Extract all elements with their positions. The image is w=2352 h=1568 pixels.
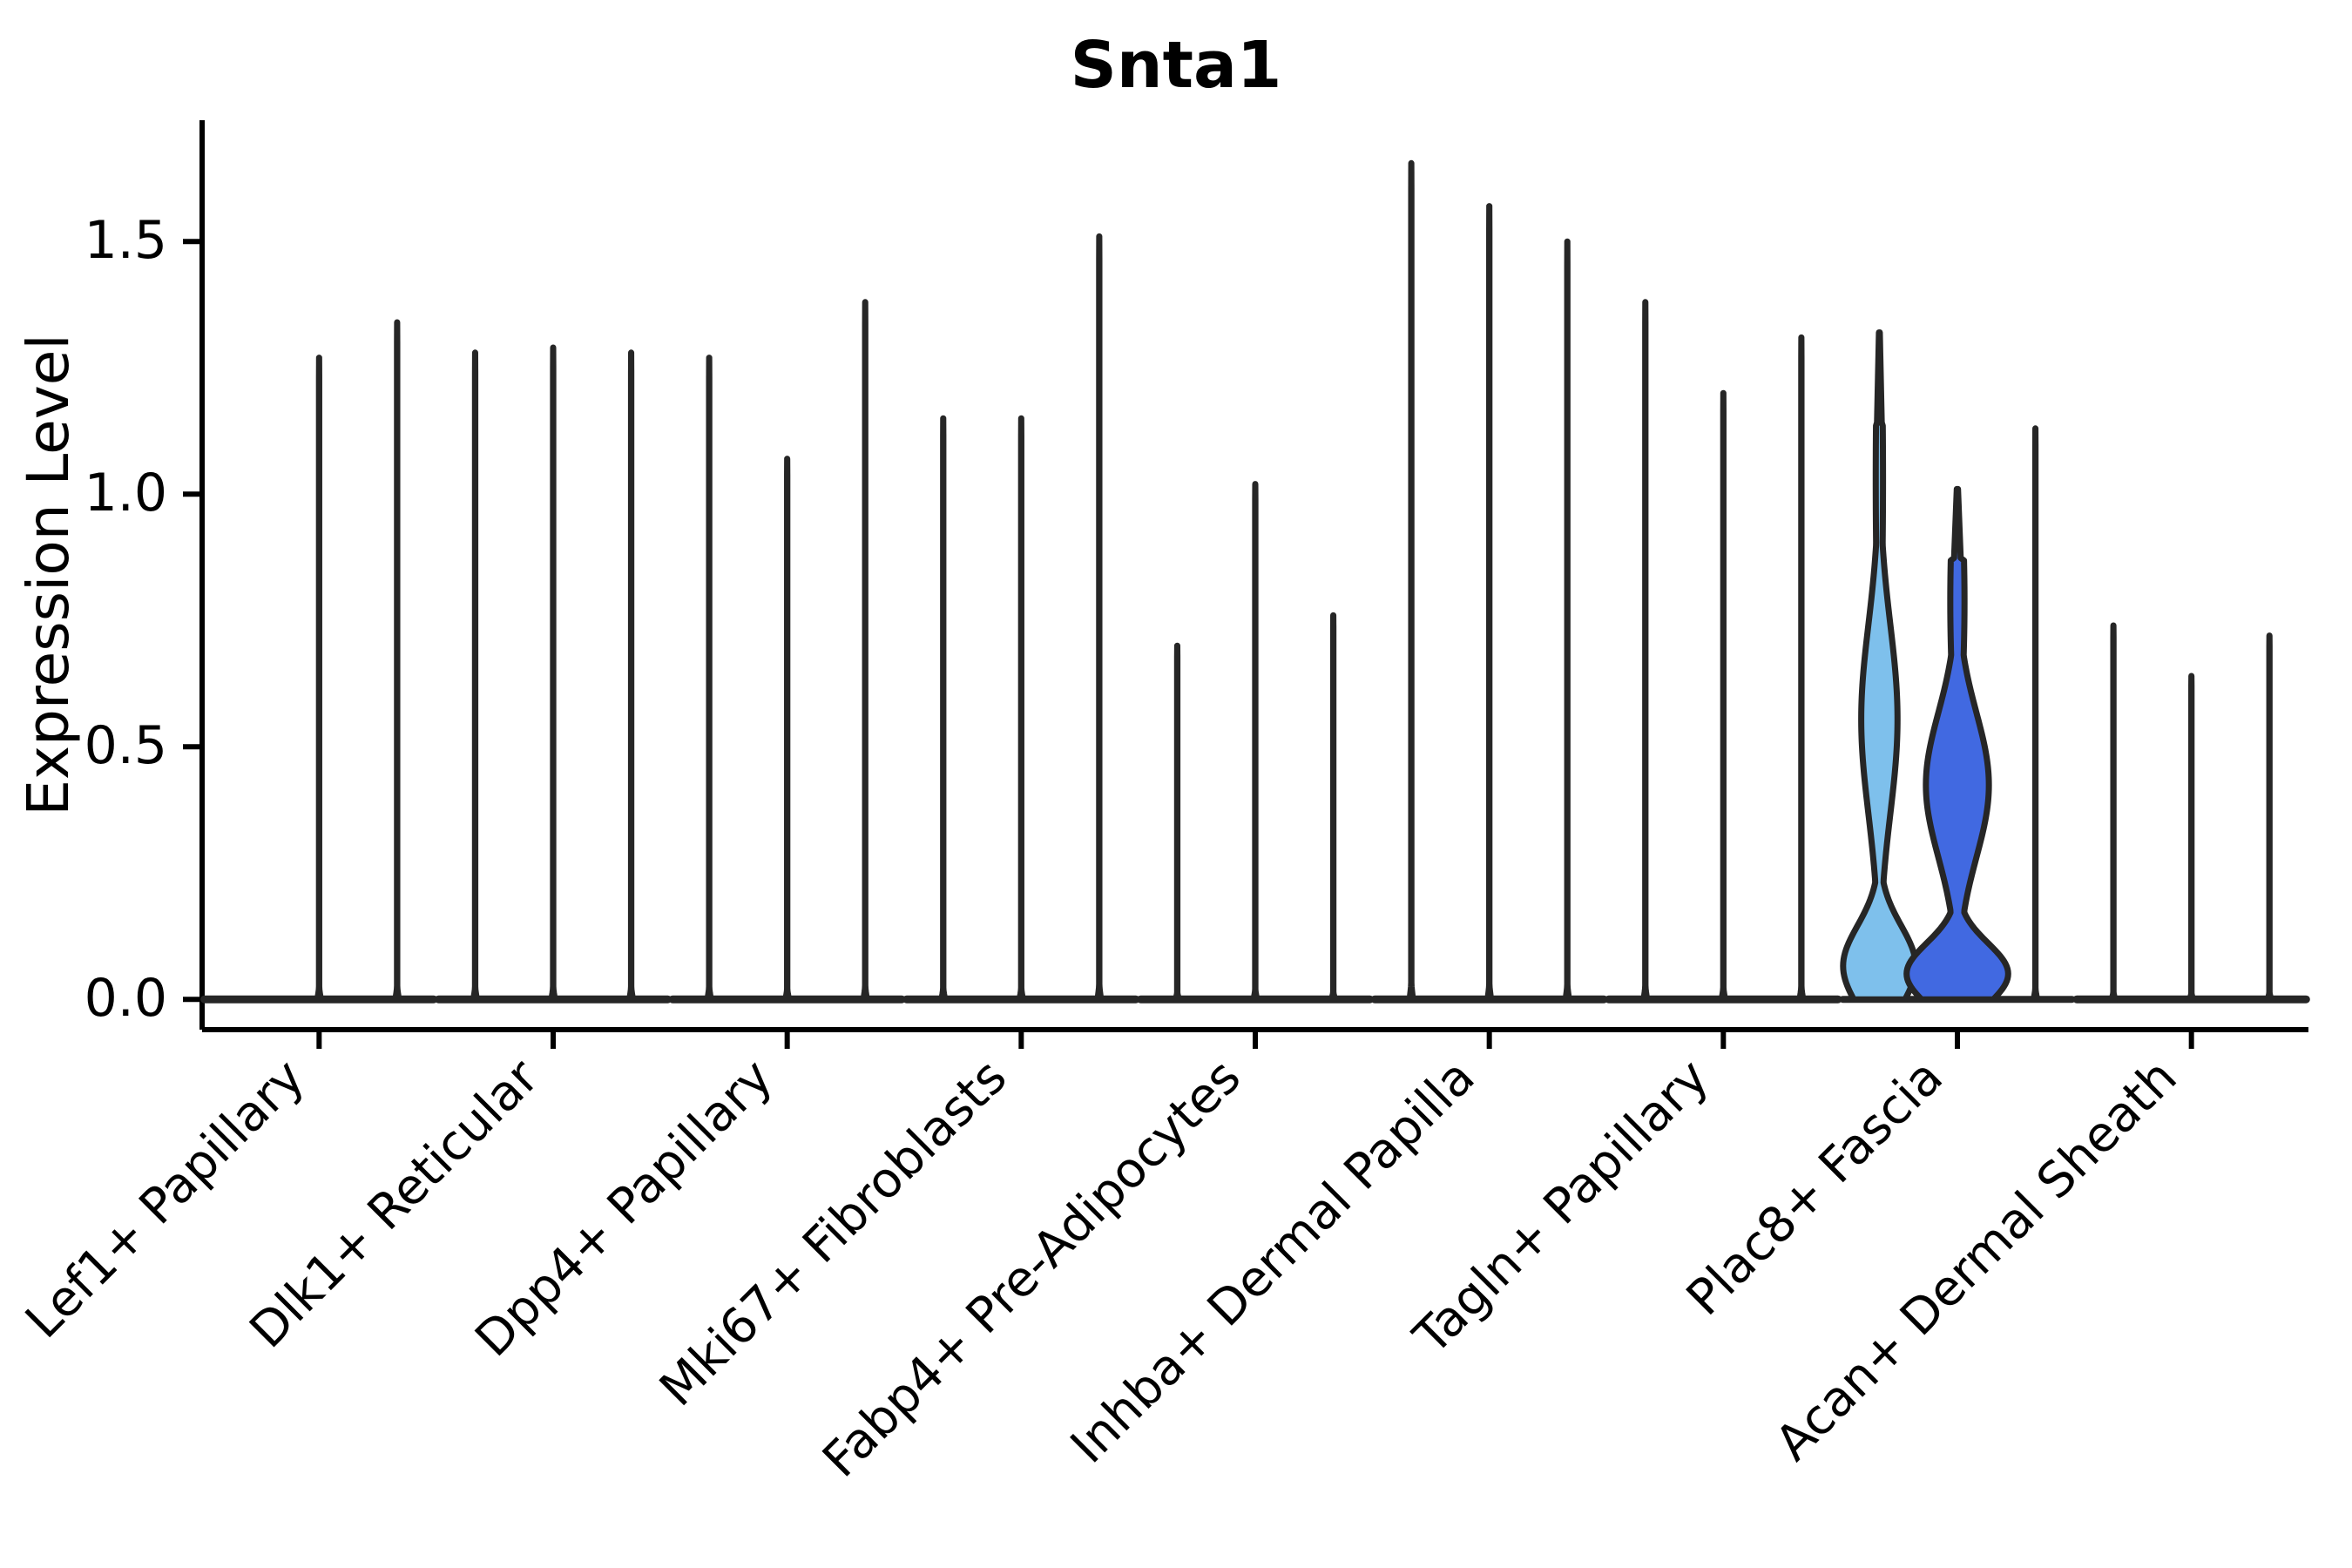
violin-shape — [395, 322, 398, 999]
violin-shape — [1409, 163, 1412, 999]
violin-shape — [1098, 236, 1100, 999]
violin-shape — [707, 358, 710, 1000]
violin-shape — [1488, 206, 1490, 1000]
violin-shape — [2190, 676, 2193, 999]
violin-shape — [2268, 636, 2271, 1000]
violin-shape — [942, 418, 944, 999]
y-tick-label: 1.0 — [84, 463, 167, 524]
y-tick-label: 0.0 — [84, 968, 167, 1029]
violin-plot-figure: Snta1 Expression Level 0.00.51.01.5 Lef1… — [0, 0, 2352, 1568]
violin-shape — [786, 459, 788, 1000]
violin-shape — [1566, 241, 1569, 999]
violin-shape — [2112, 625, 2114, 999]
y-tick-label: 1.5 — [84, 210, 167, 271]
violin-shape — [630, 353, 632, 999]
violin-shape — [1722, 393, 1725, 999]
violin-shape — [864, 302, 867, 999]
violin-shape — [1020, 418, 1023, 999]
y-axis-label: Expression Level — [15, 334, 82, 815]
violin-shape — [1644, 302, 1646, 999]
violin-shape — [1800, 337, 1802, 999]
violin-shape — [2034, 429, 2037, 999]
violin-shape — [1332, 615, 1335, 999]
violin-shape — [318, 358, 321, 1000]
violin-shape — [551, 348, 554, 999]
violin-shape — [1254, 484, 1256, 1000]
plot-canvas: Snta1 Expression Level 0.00.51.01.5 Lef1… — [0, 0, 2352, 1568]
violin-shape — [474, 353, 476, 999]
y-tick-label: 0.5 — [84, 715, 167, 776]
page-title: Snta1 — [1071, 28, 1282, 103]
violin-shape — [1176, 645, 1179, 999]
